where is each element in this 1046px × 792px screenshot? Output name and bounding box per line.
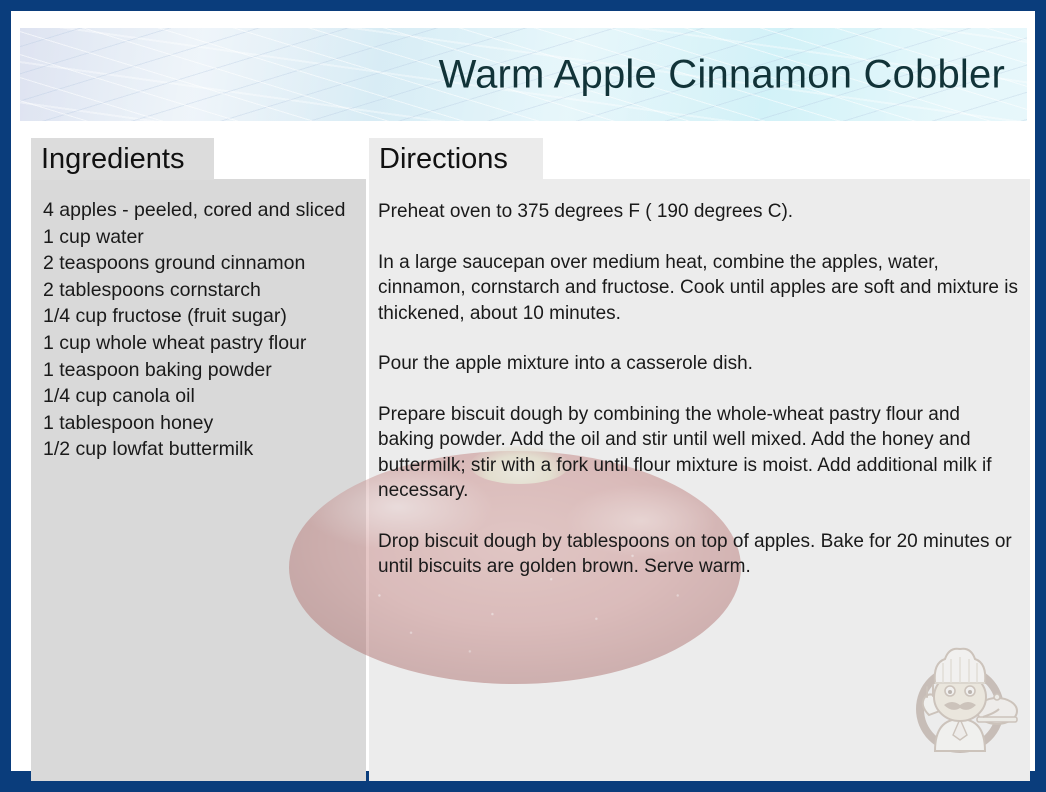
- ingredient-item: 1 teaspoon baking powder: [43, 357, 354, 384]
- ingredients-heading: Ingredients: [31, 138, 214, 180]
- ingredient-item: 2 teaspoons ground cinnamon: [43, 250, 354, 277]
- ingredient-item: 1 cup water: [43, 224, 354, 251]
- slide-page: Warm Apple Cinnamon Cobbler Ingredients …: [11, 11, 1035, 771]
- direction-step: In a large saucepan over medium heat, co…: [378, 250, 1018, 327]
- recipe-slide: Warm Apple Cinnamon Cobbler Ingredients …: [0, 0, 1046, 792]
- ingredient-item: 1/4 cup canola oil: [43, 383, 354, 410]
- directions-heading: Directions: [369, 138, 543, 180]
- direction-step: Pour the apple mixture into a casserole …: [378, 351, 1018, 377]
- direction-step: Preheat oven to 375 degrees F ( 190 degr…: [378, 199, 1018, 225]
- ingredient-item: 2 tablespoons cornstarch: [43, 277, 354, 304]
- ingredient-item: 1/2 cup lowfat buttermilk: [43, 436, 354, 463]
- ingredient-item: 1 cup whole wheat pastry flour: [43, 330, 354, 357]
- ingredient-item: 1 tablespoon honey: [43, 410, 354, 437]
- direction-step: Drop biscuit dough by tablespoons on top…: [378, 529, 1018, 580]
- directions-list: Preheat oven to 375 degrees F ( 190 degr…: [369, 199, 1030, 580]
- ingredient-item: 4 apples - peeled, cored and sliced: [43, 197, 354, 224]
- direction-step: Prepare biscuit dough by combining the w…: [378, 402, 1018, 504]
- title-banner: Warm Apple Cinnamon Cobbler: [20, 28, 1027, 121]
- ingredients-list: 4 apples - peeled, cored and sliced1 cup…: [31, 197, 366, 463]
- page-title: Warm Apple Cinnamon Cobbler: [439, 52, 1005, 97]
- ingredient-item: 1/4 cup fructose (fruit sugar): [43, 303, 354, 330]
